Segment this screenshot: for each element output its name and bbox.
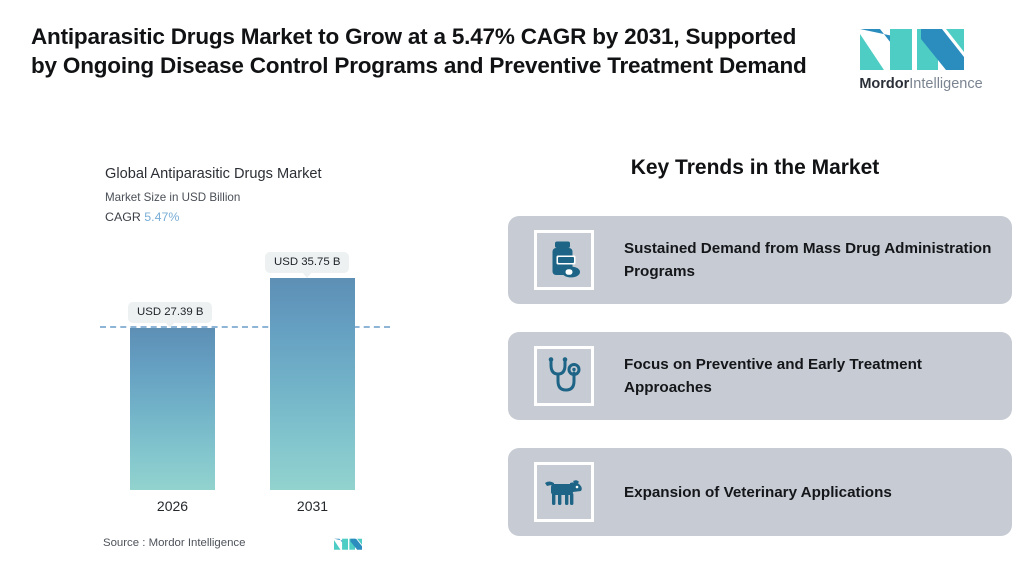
key-trends-heading: Key Trends in the Market bbox=[490, 156, 1020, 180]
trend-card-icon-box bbox=[534, 346, 594, 406]
x-axis-tick-2026: 2026 bbox=[130, 498, 215, 514]
bar-2026 bbox=[130, 328, 215, 490]
chart-panel: Global Antiparasitic Drugs Market Market… bbox=[95, 150, 425, 560]
chart-source-row: Source : Mordor Intelligence bbox=[103, 535, 393, 557]
dog-icon bbox=[543, 476, 585, 508]
trend-card[interactable]: Sustained Demand from Mass Drug Administ… bbox=[508, 216, 1012, 304]
trend-card-icon-box bbox=[534, 462, 594, 522]
trend-card-text: Sustained Demand from Mass Drug Administ… bbox=[624, 216, 994, 304]
trend-card-text: Expansion of Veterinary Applications bbox=[624, 448, 994, 536]
page-title: Antiparasitic Drugs Market to Grow at a … bbox=[31, 22, 821, 80]
mordor-m-logo-icon bbox=[334, 535, 362, 551]
chart-source-label: Source : Mordor Intelligence bbox=[103, 537, 245, 549]
key-trends-panel: Key Trends in the Market Sustained Deman… bbox=[490, 148, 1020, 560]
trend-card[interactable]: Focus on Preventive and Early Treatment … bbox=[508, 332, 1012, 420]
bar-chart-plot: USD 27.39 B USD 35.75 B 2026 2031 bbox=[95, 150, 425, 560]
brand-wordmark-bold: Mordor bbox=[859, 76, 909, 92]
brand-logo: MordorIntelligence bbox=[846, 20, 996, 100]
brand-wordmark-light: Intelligence bbox=[909, 76, 982, 92]
stethoscope-icon bbox=[546, 357, 582, 395]
page-header: Antiparasitic Drugs Market to Grow at a … bbox=[0, 0, 1029, 120]
bar-value-label-2026: USD 27.39 B bbox=[128, 302, 212, 323]
bar-value-label-2031: USD 35.75 B bbox=[265, 252, 349, 273]
x-axis-tick-2031: 2031 bbox=[270, 498, 355, 514]
mordor-m-logo-icon bbox=[860, 20, 964, 70]
trend-card-text: Focus on Preventive and Early Treatment … bbox=[624, 332, 994, 420]
medicine-bottle-icon bbox=[547, 241, 581, 279]
trend-card-icon-box bbox=[534, 230, 594, 290]
trend-card[interactable]: Expansion of Veterinary Applications bbox=[508, 448, 1012, 536]
bar-2031 bbox=[270, 278, 355, 490]
trend-card-list: Sustained Demand from Mass Drug Administ… bbox=[508, 216, 1012, 564]
brand-wordmark: MordorIntelligence bbox=[846, 76, 996, 92]
